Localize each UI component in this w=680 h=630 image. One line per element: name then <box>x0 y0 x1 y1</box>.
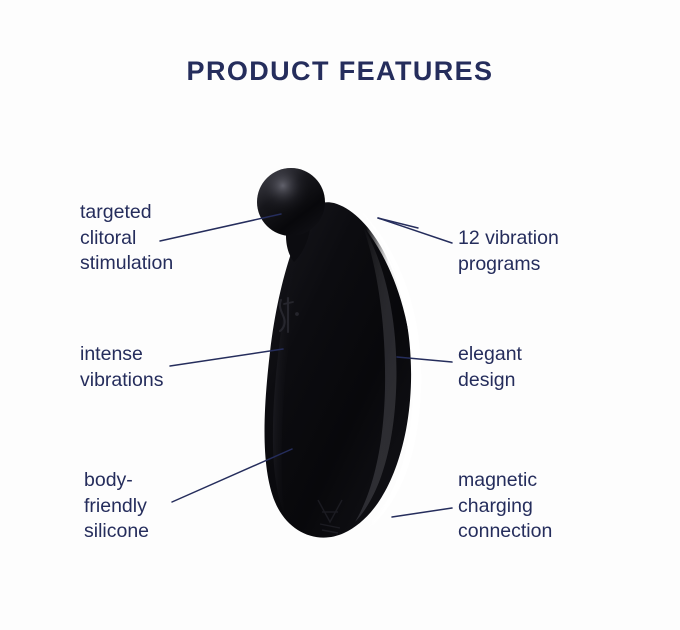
ball-specular-highlight <box>257 168 325 236</box>
features-diagram: PRODUCT FEATURES <box>0 0 680 630</box>
feature-label-body-friendly-silicone: body- friendly silicone <box>84 468 149 545</box>
feature-label-intense-vibrations: intense vibrations <box>80 342 163 393</box>
feature-label-12-vibration-programs: 12 vibration programs <box>458 226 559 277</box>
feature-label-elegant-design: elegant design <box>458 342 522 393</box>
feature-label-targeted-clitoral-stimulation: targeted clitoral stimulation <box>80 200 173 277</box>
feature-label-magnetic-charging-connection: magnetic charging connection <box>458 468 552 545</box>
